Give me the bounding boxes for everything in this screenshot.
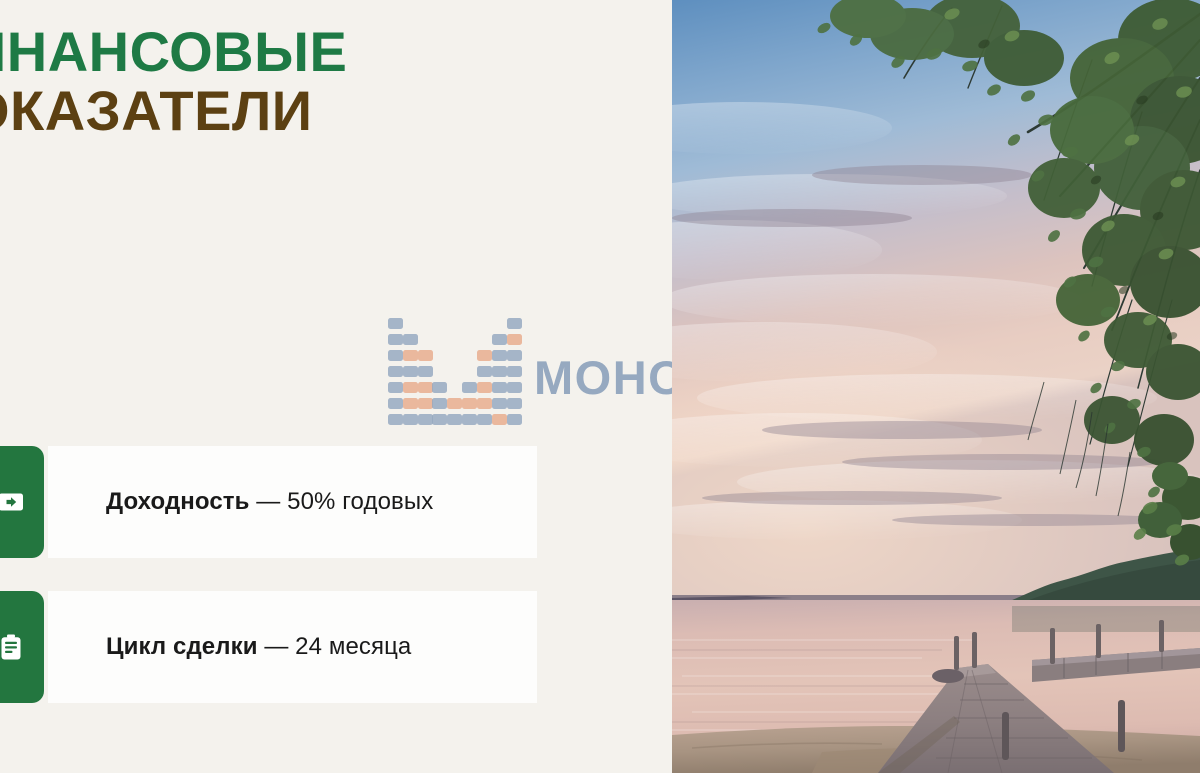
feature-row: Доходность — 50% годовых (0, 446, 537, 558)
logo-block (462, 398, 477, 409)
logo-block (432, 382, 447, 393)
feature-label: Цикл сделки — 24 месяца (48, 633, 411, 661)
feature-label-rest: — 24 месяца (258, 633, 412, 660)
logo-block (507, 366, 522, 377)
logo-block (447, 414, 462, 425)
logo-block (507, 398, 522, 409)
logo-block (477, 382, 492, 393)
logo-block (388, 366, 403, 377)
logo-block (507, 382, 522, 393)
logo-block (462, 382, 477, 393)
logo-block (403, 414, 418, 425)
feature-badge (0, 446, 44, 558)
logo-block (492, 350, 507, 361)
logo-block (388, 414, 403, 425)
feature-card: Цикл сделки — 24 месяца (48, 591, 537, 703)
logo-block (477, 350, 492, 361)
logo-block (507, 334, 522, 345)
company-logo: МОНОЛИТ (388, 318, 672, 436)
logo-block (432, 398, 447, 409)
logo-block (418, 414, 433, 425)
logo-block (492, 366, 507, 377)
feature-badge (0, 591, 44, 703)
logo-block (388, 334, 403, 345)
logo-block (388, 318, 403, 329)
logo-block (418, 398, 433, 409)
page-title-line-1: ИНАНСОВЫЕ (0, 26, 526, 79)
logo-block (477, 366, 492, 377)
feature-row: Цикл сделки — 24 месяца (0, 591, 537, 703)
logo-block (403, 334, 418, 345)
logo-block (418, 382, 433, 393)
left-content-panel: ИНАНСОВЫЕ ОКАЗАТЕЛИ МОНОЛИТ Доходность —… (0, 0, 672, 773)
calendar-clipboard-icon (0, 632, 26, 662)
logo-block (388, 350, 403, 361)
logo-block (492, 398, 507, 409)
logo-block (492, 382, 507, 393)
presentation-slide: ИНАНСОВЫЕ ОКАЗАТЕЛИ МОНОЛИТ Доходность —… (0, 0, 1200, 773)
feature-label-bold: Доходность (106, 488, 249, 515)
monolit-m-blocks-icon (388, 318, 516, 436)
logo-wordmark: МОНОЛИТ (534, 350, 672, 405)
page-title: ИНАНСОВЫЕ ОКАЗАТЕЛИ (0, 26, 526, 137)
logo-block (492, 414, 507, 425)
logo-block (403, 398, 418, 409)
feature-label-bold: Цикл сделки (106, 633, 258, 660)
logo-block (432, 414, 447, 425)
feature-label-rest: — 50% годовых (249, 488, 433, 515)
logo-block (492, 334, 507, 345)
logo-block (447, 398, 462, 409)
logo-block (507, 414, 522, 425)
lake-sunset-pier-birch-photo (672, 0, 1200, 773)
logo-block (507, 350, 522, 361)
feature-label: Доходность — 50% годовых (48, 488, 433, 516)
logo-block (403, 366, 418, 377)
logo-block (403, 382, 418, 393)
logo-block (418, 366, 433, 377)
logo-block (388, 398, 403, 409)
logo-block (477, 414, 492, 425)
logo-block (388, 382, 403, 393)
page-title-line-2: ОКАЗАТЕЛИ (0, 85, 526, 138)
money-transfer-icon (0, 487, 26, 517)
logo-block (477, 398, 492, 409)
logo-block (403, 350, 418, 361)
logo-block (418, 350, 433, 361)
logo-block (462, 414, 477, 425)
logo-block (507, 318, 522, 329)
feature-card: Доходность — 50% годовых (48, 446, 537, 558)
